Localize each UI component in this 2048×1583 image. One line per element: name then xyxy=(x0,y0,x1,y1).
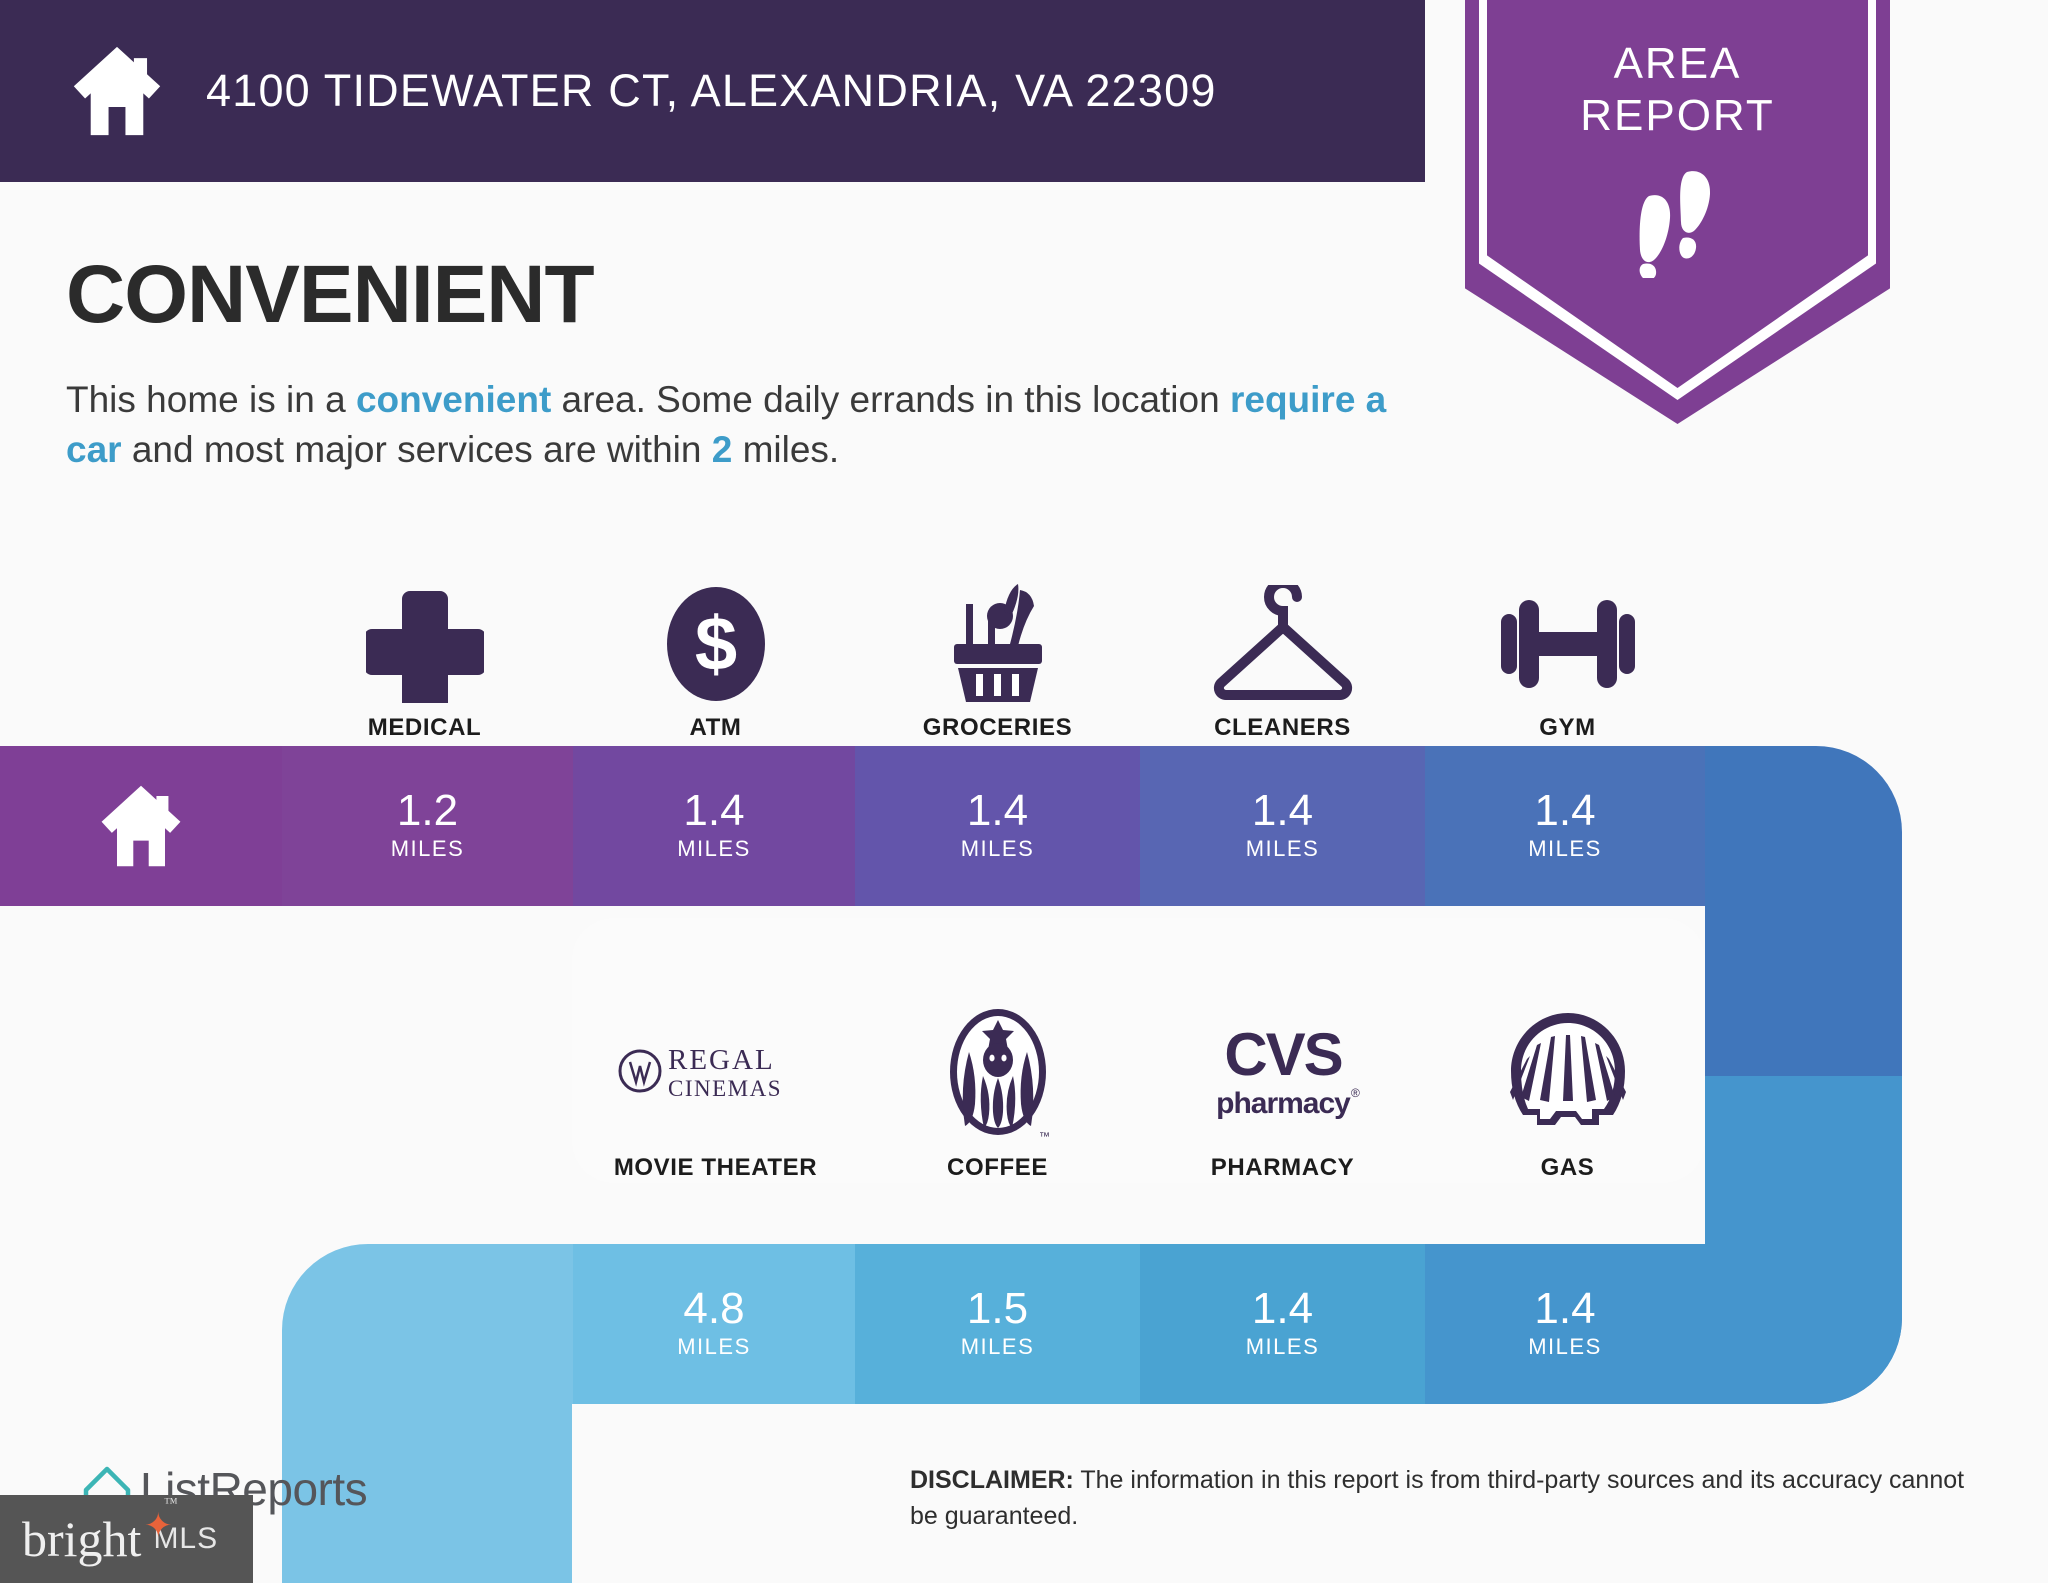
distance-value: 1.4 xyxy=(1252,788,1313,834)
distance-unit: MILES xyxy=(391,834,465,864)
cvs-pharmacy-logo: CVS pharmacy ® xyxy=(1199,995,1367,1150)
summary-part-1: This home is in a xyxy=(66,379,356,420)
amenity-atm: $ ATM xyxy=(573,552,858,742)
svg-text:pharmacy: pharmacy xyxy=(1216,1087,1351,1120)
amenity-gym: GYM xyxy=(1425,552,1710,742)
bright-mls-watermark: bright✦™ MLS xyxy=(0,1495,253,1583)
bar-segment-atm: 1.4 MILES xyxy=(573,746,855,906)
amenity-medical: MEDICAL xyxy=(282,552,567,742)
svg-text:®: ® xyxy=(1351,1086,1360,1100)
bar-segment-movie-theater: 4.8 MILES xyxy=(573,1244,855,1404)
disclaimer: DISCLAIMER: The information in this repo… xyxy=(910,1462,1970,1534)
distance-value: 4.8 xyxy=(683,1286,744,1332)
amenity-label: GYM xyxy=(1539,714,1595,742)
summary-text: This home is in a convenient area. Some … xyxy=(66,375,1426,475)
svg-text:REGAL: REGAL xyxy=(668,1044,775,1076)
amenity-label: COFFEE xyxy=(947,1154,1048,1182)
amenity-label: GAS xyxy=(1541,1154,1595,1182)
medical-cross-icon xyxy=(366,581,484,706)
disclaimer-label: DISCLAIMER: xyxy=(910,1466,1074,1494)
summary-highlight-1: convenient xyxy=(356,379,551,420)
summary-highlight-3: 2 xyxy=(712,429,733,470)
footprints-icon xyxy=(1625,168,1731,278)
distance-value: 1.4 xyxy=(1252,1286,1313,1332)
svg-text:$: $ xyxy=(694,602,736,687)
shell-logo xyxy=(1507,995,1629,1150)
home-icon xyxy=(98,784,184,868)
amenity-cleaners: CLEANERS xyxy=(1140,552,1425,742)
distance-unit: MILES xyxy=(1246,834,1320,864)
amenity-groceries: GROCERIES xyxy=(855,552,1140,742)
distance-value: 1.4 xyxy=(1534,1286,1595,1332)
amenity-gas: GAS xyxy=(1425,960,1710,1182)
distance-value: 1.5 xyxy=(967,1286,1028,1332)
distance-unit: MILES xyxy=(1528,834,1602,864)
bright-star-icon: ✦ xyxy=(144,1506,173,1546)
amenity-label: MOVIE THEATER xyxy=(614,1154,817,1182)
distance-value: 1.4 xyxy=(967,788,1028,834)
amenity-pharmacy: CVS pharmacy ® PHARMACY xyxy=(1140,960,1425,1182)
bright-tm: ™ xyxy=(164,1496,178,1512)
bar-segment-medical: 1.2 MILES xyxy=(282,746,573,906)
badge-line-2: REPORT xyxy=(1465,90,1890,142)
badge-line-1: AREA xyxy=(1465,38,1890,90)
amenity-label: PHARMACY xyxy=(1211,1154,1354,1182)
bright-wordmark: bright✦™ xyxy=(22,1510,141,1568)
distance-unit: MILES xyxy=(1528,1332,1602,1362)
dumbbell-icon xyxy=(1493,581,1643,706)
amenity-label: CLEANERS xyxy=(1214,714,1351,742)
dollar-coin-icon: $ xyxy=(659,581,773,706)
bar-segment-lead-in xyxy=(428,1244,573,1404)
amenity-coffee: ™ COFFEE xyxy=(855,960,1140,1182)
distance-unit: MILES xyxy=(961,834,1035,864)
distance-value: 1.2 xyxy=(397,788,458,834)
svg-text:™: ™ xyxy=(1039,1131,1050,1143)
amenity-label: ATM xyxy=(689,714,741,742)
summary-part-2: area. Some daily errands in this locatio… xyxy=(551,379,1230,420)
starbucks-logo: ™ xyxy=(939,995,1057,1150)
header-bar: 4100 TIDEWATER CT, ALEXANDRIA, VA 22309 xyxy=(0,0,1425,182)
badge-title: AREA REPORT xyxy=(1465,38,1890,142)
amenity-icon-row-1: MEDICAL $ ATM GROCERIES xyxy=(0,552,1848,742)
bar-segment-coffee: 1.5 MILES xyxy=(855,1244,1140,1404)
amenity-label: GROCERIES xyxy=(923,714,1072,742)
distance-unit: MILES xyxy=(961,1332,1035,1362)
bright-text: bright xyxy=(22,1511,141,1567)
page-title: 4100 TIDEWATER CT, ALEXANDRIA, VA 22309 xyxy=(206,65,1217,117)
home-icon xyxy=(70,45,164,137)
bar-segment-gym: 1.4 MILES xyxy=(1425,746,1705,906)
amenity-movie-theater: REGAL CINEMAS MOVIE THEATER xyxy=(573,960,858,1182)
distance-value: 1.4 xyxy=(1534,788,1595,834)
regal-cinemas-logo: REGAL CINEMAS xyxy=(616,995,816,1150)
distance-unit: MILES xyxy=(677,834,751,864)
svg-text:CINEMAS: CINEMAS xyxy=(668,1076,782,1101)
distance-unit: MILES xyxy=(677,1332,751,1362)
clothes-hanger-icon xyxy=(1211,581,1355,706)
headline: CONVENIENT xyxy=(66,248,594,342)
area-report-badge: AREA REPORT xyxy=(1465,0,1890,424)
distance-unit: MILES xyxy=(1246,1332,1320,1362)
bar-segment-pharmacy: 1.4 MILES xyxy=(1140,1244,1425,1404)
grocery-basket-icon xyxy=(936,581,1060,706)
bar-segment-groceries: 1.4 MILES xyxy=(855,746,1140,906)
bar-home-marker xyxy=(0,746,282,906)
amenity-icon-row-2: REGAL CINEMAS MOVIE THEATER ™ COFF xyxy=(0,960,1848,1182)
svg-text:CVS: CVS xyxy=(1224,1021,1341,1088)
distance-value: 1.4 xyxy=(683,788,744,834)
summary-part-4: miles. xyxy=(732,429,839,470)
bar-segment-gas: 1.4 MILES xyxy=(1425,1244,1705,1404)
bar-segment-cleaners: 1.4 MILES xyxy=(1140,746,1425,906)
amenity-label: MEDICAL xyxy=(368,714,482,742)
summary-part-3: and most major services are within xyxy=(122,429,712,470)
